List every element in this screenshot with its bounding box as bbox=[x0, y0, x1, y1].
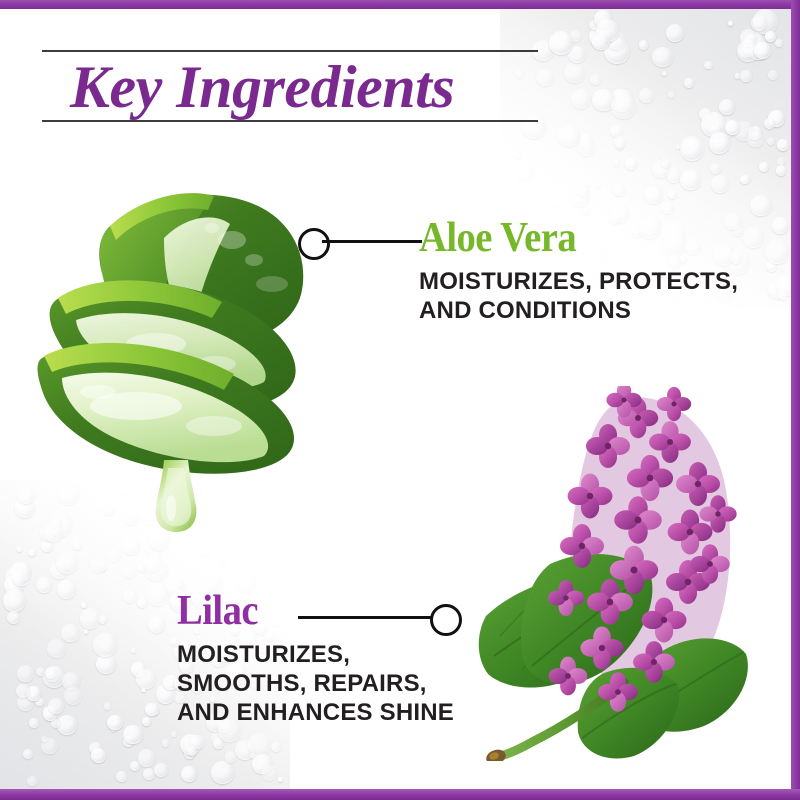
lilac-description: MOISTURIZES, SMOOTHS, REPAIRS, AND ENHAN… bbox=[177, 640, 454, 727]
aloe-vera-description: MOISTURIZES, PROTECTS, AND CONDITIONS bbox=[419, 267, 738, 325]
aloe-vera-callout: Aloe Vera MOISTURIZES, PROTECTS, AND CON… bbox=[419, 216, 738, 325]
aloe-vera-heading: Aloe Vera bbox=[419, 216, 713, 260]
lilac-flower-image bbox=[478, 386, 800, 761]
title-rule-bottom bbox=[42, 120, 538, 122]
top-purple-bar bbox=[0, 0, 800, 9]
lilac-description-line-3: AND ENHANCES SHINE bbox=[177, 698, 454, 727]
page-title: Key Ingredients bbox=[42, 52, 538, 120]
lilac-callout: Lilac MOISTURIZES, SMOOTHS, REPAIRS, AND… bbox=[177, 589, 454, 727]
lilac-heading: Lilac bbox=[177, 589, 432, 633]
lilac-description-line-1: MOISTURIZES, bbox=[177, 640, 454, 669]
aloe-vera-image bbox=[36, 168, 336, 538]
ingredients-infographic: Key Ingredients bbox=[0, 0, 800, 800]
aloe-vera-connector-line bbox=[322, 240, 422, 243]
bottom-purple-bar bbox=[0, 789, 800, 800]
lilac-description-line-2: SMOOTHS, REPAIRS, bbox=[177, 669, 454, 698]
aloe-vera-marker-circle-icon bbox=[298, 228, 330, 260]
aloe-vera-connector bbox=[298, 228, 422, 254]
aloe-vera-description-line-2: AND CONDITIONS bbox=[419, 296, 738, 325]
aloe-vera-description-line-1: MOISTURIZES, PROTECTS, bbox=[419, 267, 738, 296]
title-block: Key Ingredients bbox=[42, 50, 538, 122]
